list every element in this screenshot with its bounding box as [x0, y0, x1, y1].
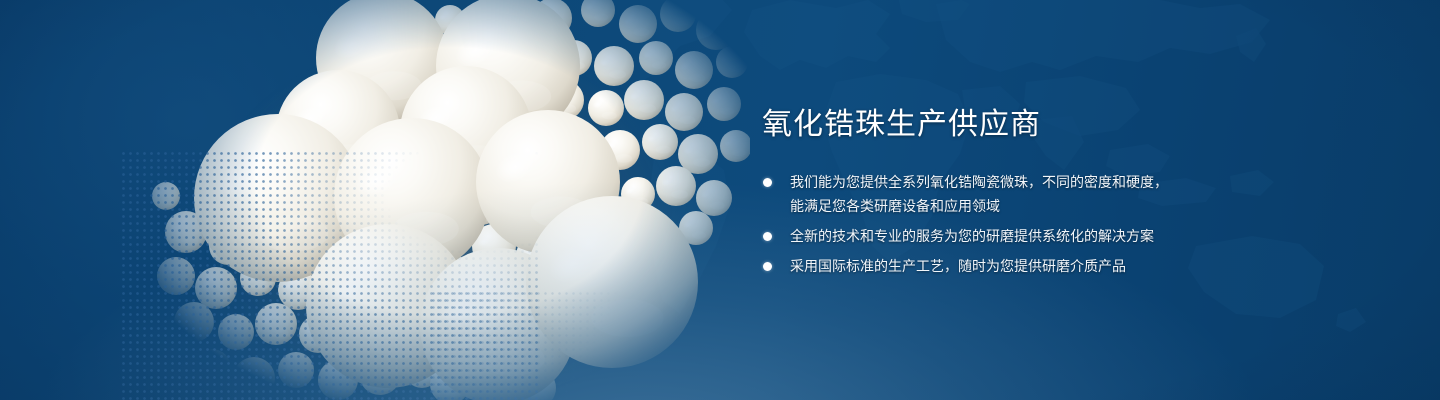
hero-banner: 氧化锆珠生产供应商 我们能为您提供全系列氧化锆陶瓷微珠，不同的密度和硬度， 能满…: [0, 0, 1440, 400]
feature-item-1-line1: 我们能为您提供全系列氧化锆陶瓷微珠，不同的密度和硬度，: [790, 174, 1168, 190]
bullet-dot-icon: [763, 232, 772, 241]
feature-item-1: 我们能为您提供全系列氧化锆陶瓷微珠，不同的密度和硬度， 能满足您各类研磨设备和应…: [762, 170, 1322, 218]
feature-item-1-line2: 能满足您各类研磨设备和应用领域: [790, 194, 1322, 218]
bullet-dot-icon: [763, 178, 772, 187]
feature-item-3: 采用国际标准的生产工艺，随时为您提供研磨介质产品: [762, 254, 1322, 278]
banner-headline: 氧化锆珠生产供应商: [762, 106, 1322, 144]
feature-item-2-line1: 全新的技术和专业的服务为您的研磨提供系统化的解决方案: [790, 228, 1154, 244]
feature-list: 我们能为您提供全系列氧化锆陶瓷微珠，不同的密度和硬度， 能满足您各类研磨设备和应…: [762, 170, 1322, 278]
feature-item-2: 全新的技术和专业的服务为您的研磨提供系统化的解决方案: [762, 224, 1322, 248]
banner-copy: 氧化锆珠生产供应商 我们能为您提供全系列氧化锆陶瓷微珠，不同的密度和硬度， 能满…: [762, 106, 1322, 284]
feature-item-3-line1: 采用国际标准的生产工艺，随时为您提供研磨介质产品: [790, 258, 1126, 274]
bullet-dot-icon: [763, 262, 772, 271]
